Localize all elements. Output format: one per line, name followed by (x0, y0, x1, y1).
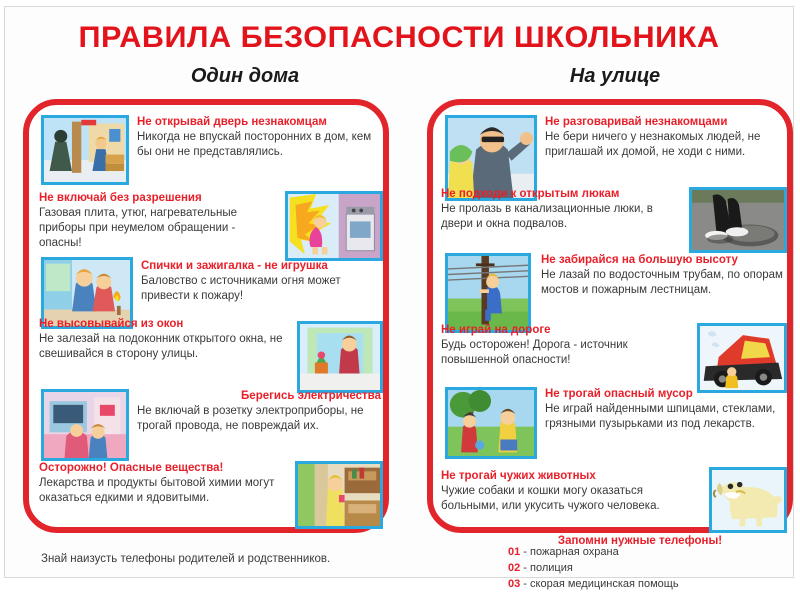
column-subtitle-home: Один дома (105, 65, 385, 88)
column-subtitle-street: На улице (475, 65, 755, 88)
thumb-gas-stove-fire-photo (285, 191, 383, 261)
rule-heading: Не подходи к открытым люкам (441, 187, 681, 201)
phone-dash: - (520, 562, 530, 574)
phone-row: 03 - скорая медицинская помощь (508, 577, 788, 593)
rule-body: Не лазай по водосточным трубам, по опора… (541, 268, 785, 298)
rule-heading: Не трогай чужих животных (441, 469, 699, 483)
thumb-electric-socket-photo (41, 389, 129, 461)
rule-heading: Берегись электричества (137, 389, 381, 403)
rule-heading: Не забирайся на большую высоту (541, 253, 785, 267)
rule-text: Не трогай опасный мусор Не играй найденн… (545, 387, 785, 432)
rule-body: Не залезай на подоконник открытого окна,… (39, 332, 289, 362)
rule-heading: Не включай без разрешения (39, 191, 279, 205)
rule-heading: Осторожно! Опасные вещества! (39, 461, 289, 475)
rule-text: Не высовывайся из окон Не залезай на под… (39, 317, 289, 362)
rule-text: Не играй на дороге Будь осторожен! Дорог… (441, 323, 687, 368)
phone-service: пожарная охрана (530, 546, 619, 558)
rule-text: Осторожно! Опасные вещества! Лекарства и… (39, 461, 289, 506)
thumb-car-accident-photo (697, 323, 787, 393)
rule-body: Не бери ничего у незнакомых людей, не пр… (545, 130, 785, 160)
phone-service: скорая медицинская помощь (530, 578, 679, 590)
rule-text: Берегись электричества Не включай в розе… (137, 389, 381, 434)
rule-heading: Не разговаривай незнакомцами (545, 115, 785, 129)
rule-body: Будь осторожен! Дорога - источник повыше… (441, 338, 687, 368)
phone-number: 03 (508, 578, 520, 590)
rule-body: Газовая плита, утюг, нагревательные приб… (39, 206, 279, 251)
thumb-angry-dog-photo (709, 467, 787, 533)
rule-text: Спички и зажигалка - не игрушка Баловств… (141, 259, 381, 304)
rule-body: Чужие собаки и кошки могу оказаться боль… (441, 484, 699, 514)
rule-heading: Не высовывайся из окон (39, 317, 289, 331)
phone-dash: - (520, 578, 530, 590)
phone-row: 02 - полиция (508, 561, 788, 577)
rule-text: Не разговаривай незнакомцами Не бери нич… (545, 115, 785, 160)
rule-text: Не открывай дверь незнакомцам Никогда не… (137, 115, 379, 160)
rule-heading: Спички и зажигалка - не игрушка (141, 259, 381, 273)
rule-body: Не пролазь в канализационные люки, в две… (441, 202, 681, 232)
thumb-boy-climbing-pole-photo (445, 253, 531, 333)
thumb-child-at-window-photo (297, 321, 383, 393)
thumb-household-chemicals-photo (295, 461, 383, 529)
rule-text: Не трогай чужих животных Чужие собаки и … (441, 469, 699, 514)
emergency-phone-list: 01 - пожарная охрана 02 - полиция 03 - с… (508, 545, 788, 593)
rule-body: Не играй найденными шпицами, стеклами, г… (545, 402, 785, 432)
rule-text: Не забирайся на большую высоту Не лазай … (541, 253, 785, 298)
thumb-open-manhole-photo (689, 187, 787, 253)
panel-street: Не разговаривай незнакомцами Не бери нич… (427, 99, 793, 533)
phone-number: 01 (508, 546, 520, 558)
page-title: ПРАВИЛА БЕЗОПАСНОСТИ ШКОЛЬНИКА (0, 21, 800, 55)
phone-number: 02 (508, 562, 520, 574)
phone-row: 01 - пожарная охрана (508, 545, 788, 561)
rule-heading: Не открывай дверь незнакомцам (137, 115, 379, 129)
phone-dash: - (520, 546, 530, 558)
thumb-children-finding-trash-photo (445, 387, 537, 459)
rule-body: Лекарства и продукты бытовой химии могут… (39, 476, 289, 506)
rule-text: Не подходи к открытым люкам Не пролазь в… (441, 187, 681, 232)
rule-body: Баловство с источниками огня может приве… (141, 274, 381, 304)
parents-phones-text: Знай наизусть телефоны родителей и родст… (41, 553, 461, 565)
rule-body: Не включай в розетку электроприборы, не … (137, 404, 381, 434)
rule-heading: Не играй на дороге (441, 323, 687, 337)
panel-home: Не открывай дверь незнакомцам Никогда не… (23, 99, 389, 533)
rule-body: Никогда не впускай посторонних в дом, ке… (137, 130, 379, 160)
poster-root: ПРАВИЛА БЕЗОПАСНОСТИ ШКОЛЬНИКА Один дома… (4, 6, 794, 578)
rule-text: Не включай без разрешения Газовая плита,… (39, 191, 279, 251)
thumb-burglar-at-door-photo (41, 115, 129, 185)
phone-service: полиция (530, 562, 573, 574)
rule-heading: Не трогай опасный мусор (545, 387, 785, 401)
